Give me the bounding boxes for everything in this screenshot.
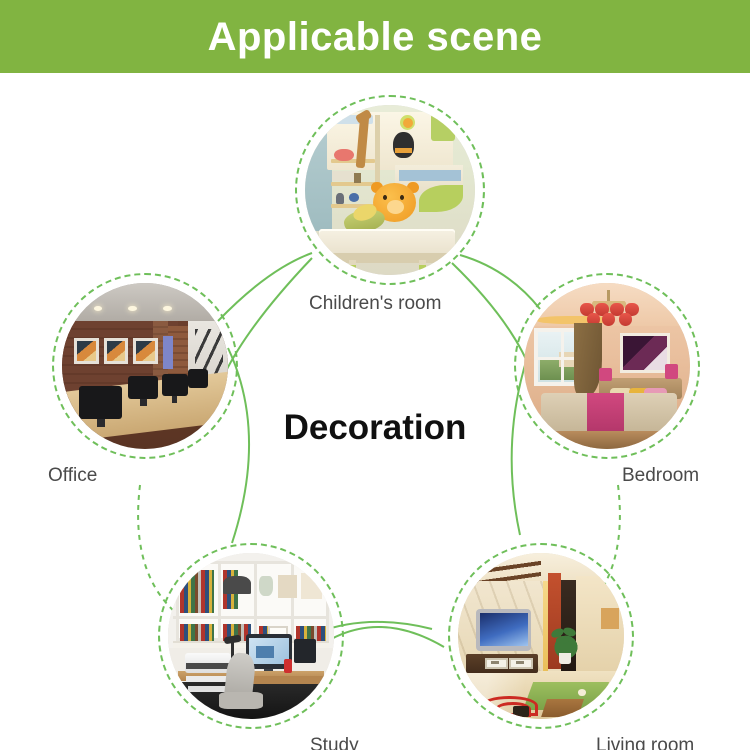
node-children-room[interactable]: Children's room xyxy=(295,95,485,285)
page-title: Applicable scene xyxy=(208,17,543,57)
photo-children-room xyxy=(305,105,475,275)
caption-children-room: Children's room xyxy=(309,293,441,315)
node-office[interactable]: Office xyxy=(52,273,238,459)
caption-office: Office xyxy=(48,465,97,487)
scene-diagram: Decoration xyxy=(0,73,750,750)
applicable-scene-infographic: Applicable scene Decorat xyxy=(0,0,750,750)
caption-living-room: Living room xyxy=(596,735,694,750)
photo-study xyxy=(168,553,334,719)
photo-living-room xyxy=(458,553,624,719)
node-living-room[interactable]: Living room xyxy=(448,543,634,729)
photo-office xyxy=(62,283,228,449)
caption-study: Study xyxy=(310,735,359,750)
header-banner: Applicable scene xyxy=(0,0,750,73)
node-bedroom[interactable]: Bedroom xyxy=(514,273,700,459)
photo-bedroom xyxy=(524,283,690,449)
caption-bedroom: Bedroom xyxy=(622,465,699,487)
node-study[interactable]: Study xyxy=(158,543,344,729)
